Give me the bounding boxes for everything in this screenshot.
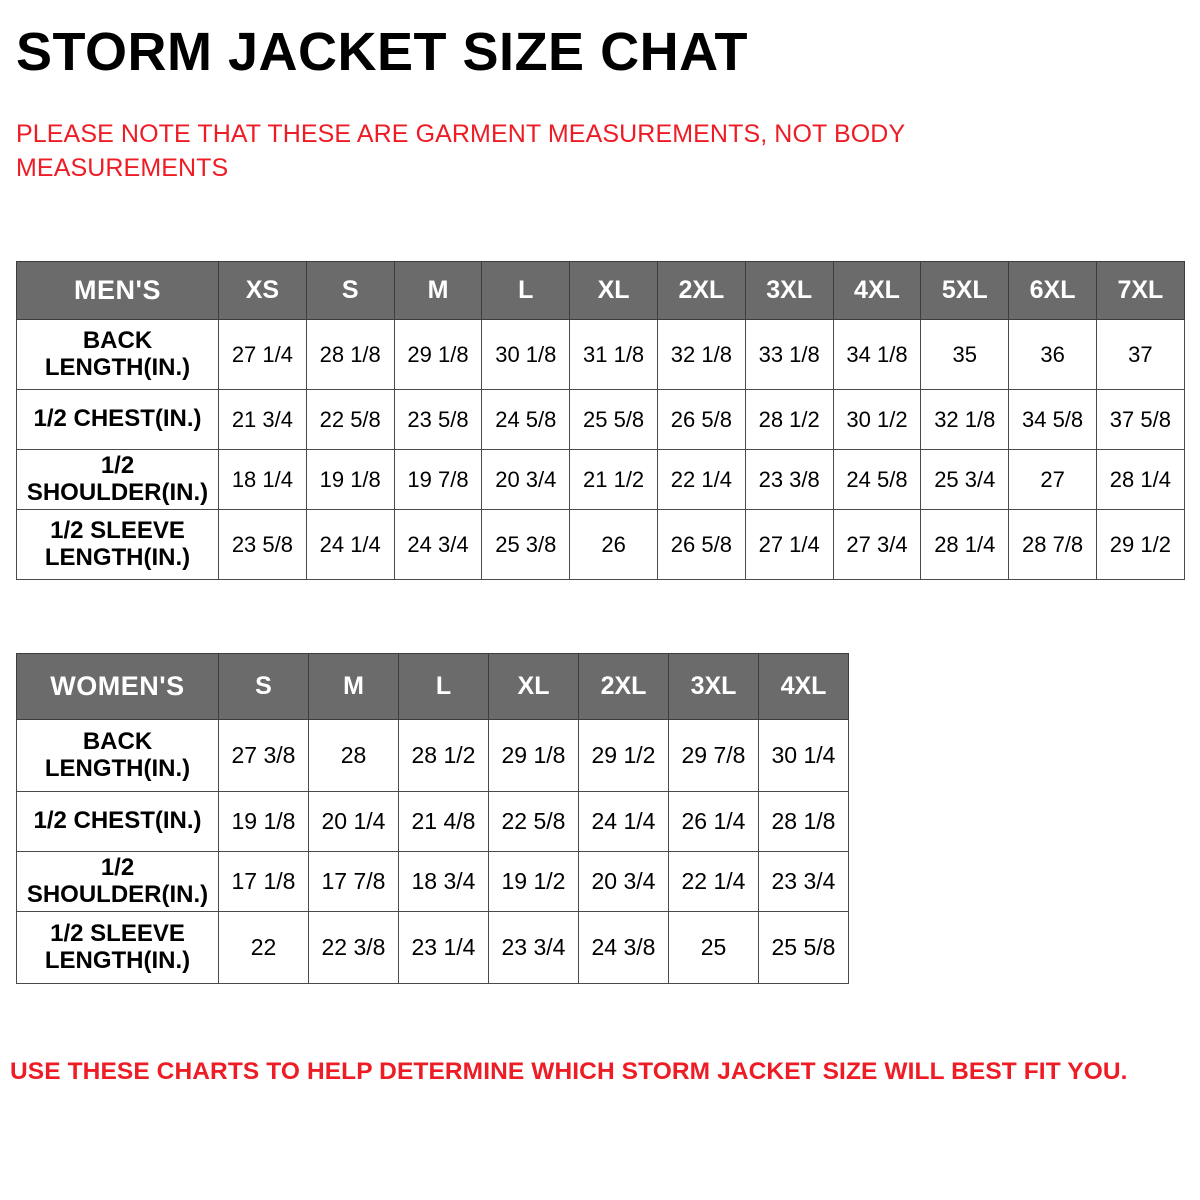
table-row: BACK LENGTH(IN.) 27 1/4 28 1/8 29 1/8 30… (17, 320, 1185, 390)
mens-cell-half-sleeve-xs: 23 5/8 (219, 510, 307, 580)
table-row: 1/2 CHEST(IN.) 21 3/4 22 5/8 23 5/8 24 5… (17, 390, 1185, 450)
womens-cell-half-chest-3xl: 26 1/4 (669, 792, 759, 852)
mens-cell-back-length-6xl: 36 (1009, 320, 1097, 390)
table-row: 1/2 CHEST(IN.) 19 1/8 20 1/4 21 4/8 22 5… (17, 792, 849, 852)
womens-table-corner-label: WOMEN'S (17, 654, 219, 720)
womens-cell-half-shoulder-4xl: 23 3/4 (759, 852, 849, 912)
mens-row-label-half-chest: 1/2 CHEST(IN.) (17, 390, 219, 450)
mens-row-label-half-sleeve-length: 1/2 SLEEVE LENGTH(IN.) (17, 510, 219, 580)
womens-cell-half-shoulder-l: 18 3/4 (399, 852, 489, 912)
womens-cell-back-length-m: 28 (309, 720, 399, 792)
mens-cell-half-sleeve-6xl: 28 7/8 (1009, 510, 1097, 580)
mens-cell-half-shoulder-3xl: 23 3/8 (745, 450, 833, 510)
mens-col-m: M (394, 262, 482, 320)
mens-cell-half-shoulder-7xl: 28 1/4 (1096, 450, 1184, 510)
womens-cell-half-chest-xl: 22 5/8 (489, 792, 579, 852)
womens-cell-half-chest-4xl: 28 1/8 (759, 792, 849, 852)
mens-col-2xl: 2XL (657, 262, 745, 320)
mens-cell-half-sleeve-5xl: 28 1/4 (921, 510, 1009, 580)
womens-row-label-half-shoulder: 1/2 SHOULDER(IN.) (17, 852, 219, 912)
mens-cell-back-length-l: 30 1/8 (482, 320, 570, 390)
mens-cell-half-sleeve-2xl: 26 5/8 (657, 510, 745, 580)
mens-cell-back-length-3xl: 33 1/8 (745, 320, 833, 390)
mens-cell-half-chest-6xl: 34 5/8 (1009, 390, 1097, 450)
mens-size-table: MEN'S XS S M L XL 2XL 3XL 4XL 5XL 6XL 7X… (16, 261, 1185, 580)
mens-cell-half-sleeve-xl: 26 (570, 510, 658, 580)
womens-cell-half-shoulder-m: 17 7/8 (309, 852, 399, 912)
table-row: BACK LENGTH(IN.) 27 3/8 28 28 1/2 29 1/8… (17, 720, 849, 792)
mens-cell-back-length-m: 29 1/8 (394, 320, 482, 390)
mens-cell-half-sleeve-s: 24 1/4 (306, 510, 394, 580)
mens-cell-half-chest-xl: 25 5/8 (570, 390, 658, 450)
womens-cell-back-length-l: 28 1/2 (399, 720, 489, 792)
womens-cell-back-length-3xl: 29 7/8 (669, 720, 759, 792)
mens-cell-half-shoulder-s: 19 1/8 (306, 450, 394, 510)
mens-row-label-half-shoulder: 1/2 SHOULDER(IN.) (17, 450, 219, 510)
mens-cell-half-shoulder-xl: 21 1/2 (570, 450, 658, 510)
mens-col-xs: XS (219, 262, 307, 320)
mens-cell-half-chest-m: 23 5/8 (394, 390, 482, 450)
womens-cell-back-length-s: 27 3/8 (219, 720, 309, 792)
mens-cell-half-sleeve-l: 25 3/8 (482, 510, 570, 580)
mens-cell-half-shoulder-4xl: 24 5/8 (833, 450, 921, 510)
mens-cell-back-length-xs: 27 1/4 (219, 320, 307, 390)
womens-cell-half-shoulder-xl: 19 1/2 (489, 852, 579, 912)
mens-table-corner-label: MEN'S (17, 262, 219, 320)
womens-row-label-half-sleeve-length: 1/2 SLEEVE LENGTH(IN.) (17, 912, 219, 984)
table-row: 1/2 SLEEVE LENGTH(IN.) 23 5/8 24 1/4 24 … (17, 510, 1185, 580)
womens-cell-half-sleeve-l: 23 1/4 (399, 912, 489, 984)
womens-cell-back-length-xl: 29 1/8 (489, 720, 579, 792)
womens-cell-back-length-4xl: 30 1/4 (759, 720, 849, 792)
mens-cell-half-chest-s: 22 5/8 (306, 390, 394, 450)
mens-table-header-row: MEN'S XS S M L XL 2XL 3XL 4XL 5XL 6XL 7X… (17, 262, 1185, 320)
womens-cell-half-sleeve-xl: 23 3/4 (489, 912, 579, 984)
mens-cell-half-chest-4xl: 30 1/2 (833, 390, 921, 450)
mens-cell-back-length-s: 28 1/8 (306, 320, 394, 390)
mens-cell-back-length-5xl: 35 (921, 320, 1009, 390)
womens-cell-back-length-2xl: 29 1/2 (579, 720, 669, 792)
garment-measurement-note: PLEASE NOTE THAT THESE ARE GARMENT MEASU… (16, 118, 976, 186)
mens-cell-half-shoulder-6xl: 27 (1009, 450, 1097, 510)
mens-cell-half-chest-5xl: 32 1/8 (921, 390, 1009, 450)
table-row: 1/2 SLEEVE LENGTH(IN.) 22 22 3/8 23 1/4 … (17, 912, 849, 984)
mens-cell-half-shoulder-xs: 18 1/4 (219, 450, 307, 510)
mens-col-xl: XL (570, 262, 658, 320)
mens-cell-back-length-xl: 31 1/8 (570, 320, 658, 390)
table-row: 1/2 SHOULDER(IN.) 17 1/8 17 7/8 18 3/4 1… (17, 852, 849, 912)
womens-col-l: L (399, 654, 489, 720)
mens-col-4xl: 4XL (833, 262, 921, 320)
womens-cell-half-sleeve-s: 22 (219, 912, 309, 984)
mens-col-7xl: 7XL (1096, 262, 1184, 320)
mens-cell-half-sleeve-m: 24 3/4 (394, 510, 482, 580)
mens-cell-back-length-7xl: 37 (1096, 320, 1184, 390)
mens-col-l: L (482, 262, 570, 320)
womens-cell-half-chest-m: 20 1/4 (309, 792, 399, 852)
womens-cell-half-shoulder-2xl: 20 3/4 (579, 852, 669, 912)
womens-cell-half-chest-2xl: 24 1/4 (579, 792, 669, 852)
womens-table-header-row: WOMEN'S S M L XL 2XL 3XL 4XL (17, 654, 849, 720)
womens-row-label-half-chest: 1/2 CHEST(IN.) (17, 792, 219, 852)
womens-cell-half-sleeve-3xl: 25 (669, 912, 759, 984)
mens-cell-half-chest-xs: 21 3/4 (219, 390, 307, 450)
womens-col-2xl: 2XL (579, 654, 669, 720)
womens-cell-half-shoulder-3xl: 22 1/4 (669, 852, 759, 912)
womens-cell-half-chest-l: 21 4/8 (399, 792, 489, 852)
mens-cell-back-length-2xl: 32 1/8 (657, 320, 745, 390)
womens-col-xl: XL (489, 654, 579, 720)
mens-cell-half-chest-2xl: 26 5/8 (657, 390, 745, 450)
mens-cell-half-sleeve-4xl: 27 3/4 (833, 510, 921, 580)
womens-col-4xl: 4XL (759, 654, 849, 720)
womens-cell-half-sleeve-m: 22 3/8 (309, 912, 399, 984)
mens-cell-half-chest-7xl: 37 5/8 (1096, 390, 1184, 450)
womens-cell-half-sleeve-4xl: 25 5/8 (759, 912, 849, 984)
womens-cell-half-chest-s: 19 1/8 (219, 792, 309, 852)
mens-cell-half-chest-l: 24 5/8 (482, 390, 570, 450)
womens-col-3xl: 3XL (669, 654, 759, 720)
mens-cell-half-shoulder-m: 19 7/8 (394, 450, 482, 510)
mens-row-label-back-length: BACK LENGTH(IN.) (17, 320, 219, 390)
womens-col-s: S (219, 654, 309, 720)
mens-col-5xl: 5XL (921, 262, 1009, 320)
womens-cell-half-shoulder-s: 17 1/8 (219, 852, 309, 912)
mens-cell-half-shoulder-2xl: 22 1/4 (657, 450, 745, 510)
footer-guidance-note: USE THESE CHARTS TO HELP DETERMINE WHICH… (10, 1058, 1190, 1086)
mens-cell-half-sleeve-3xl: 27 1/4 (745, 510, 833, 580)
womens-row-label-back-length: BACK LENGTH(IN.) (17, 720, 219, 792)
mens-cell-half-chest-3xl: 28 1/2 (745, 390, 833, 450)
mens-cell-half-sleeve-7xl: 29 1/2 (1096, 510, 1184, 580)
mens-cell-back-length-4xl: 34 1/8 (833, 320, 921, 390)
mens-col-3xl: 3XL (745, 262, 833, 320)
womens-col-m: M (309, 654, 399, 720)
table-row: 1/2 SHOULDER(IN.) 18 1/4 19 1/8 19 7/8 2… (17, 450, 1185, 510)
womens-cell-half-sleeve-2xl: 24 3/8 (579, 912, 669, 984)
mens-col-6xl: 6XL (1009, 262, 1097, 320)
page-title: STORM JACKET SIZE CHAT (16, 24, 748, 81)
size-chart-page: STORM JACKET SIZE CHAT PLEASE NOTE THAT … (0, 0, 1200, 1200)
mens-cell-half-shoulder-l: 20 3/4 (482, 450, 570, 510)
womens-size-table: WOMEN'S S M L XL 2XL 3XL 4XL BACK LENGTH… (16, 653, 849, 984)
mens-col-s: S (306, 262, 394, 320)
mens-cell-half-shoulder-5xl: 25 3/4 (921, 450, 1009, 510)
